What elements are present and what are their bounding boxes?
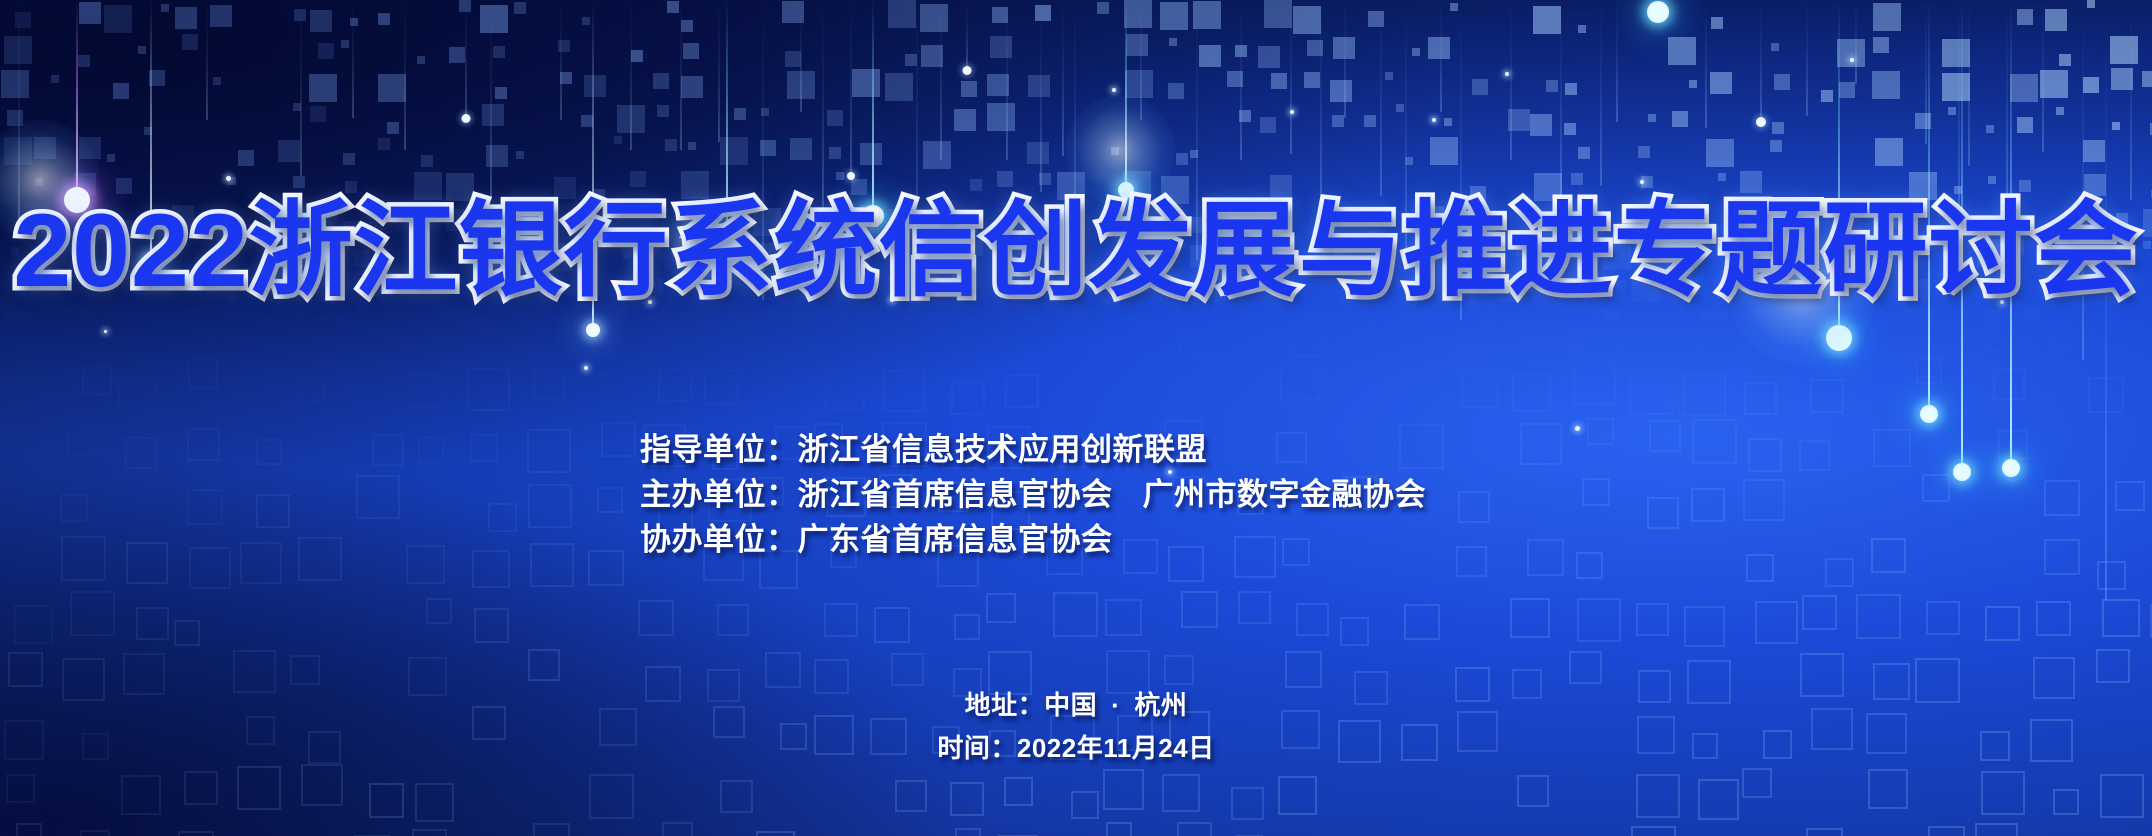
location-separator-dot: · bbox=[1111, 690, 1120, 720]
time-value: 2022年11月24日 bbox=[1017, 733, 1215, 763]
organizer-value-host-2: 广州市数字金融协会 bbox=[1143, 477, 1427, 512]
location-country: 中国 bbox=[1044, 690, 1097, 720]
location-label: 地址： bbox=[965, 690, 1045, 720]
banner-content: 2022浙江银行系统信创发展与推进专题研讨会 指导单位：浙江省信息技术应用创新联… bbox=[0, 0, 2152, 836]
organizer-label-guidance: 指导单位： bbox=[640, 432, 798, 467]
time-label: 时间： bbox=[937, 733, 1017, 763]
organizer-list: 指导单位：浙江省信息技术应用创新联盟 主办单位：浙江省首席信息官协会广州市数字金… bbox=[640, 427, 1426, 562]
organizer-row-cohost: 协办单位：广东省首席信息官协会 bbox=[640, 517, 1426, 562]
organizer-label-cohost: 协办单位： bbox=[640, 522, 798, 557]
organizer-row-host: 主办单位：浙江省首席信息官协会广州市数字金融协会 bbox=[640, 472, 1426, 517]
event-time-row: 时间：2022年11月24日 bbox=[0, 727, 2152, 770]
organizer-value-guidance: 浙江省信息技术应用创新联盟 bbox=[798, 432, 1208, 467]
event-location-row: 地址：中国·杭州 bbox=[0, 684, 2152, 727]
organizer-value-cohost: 广东省首席信息官协会 bbox=[798, 522, 1113, 557]
event-banner: 2022浙江银行系统信创发展与推进专题研讨会 指导单位：浙江省信息技术应用创新联… bbox=[0, 0, 2152, 836]
page-title: 2022浙江银行系统信创发展与推进专题研讨会 bbox=[0, 196, 2152, 306]
organizer-value-host: 浙江省首席信息官协会 bbox=[798, 477, 1113, 512]
organizer-label-host: 主办单位： bbox=[640, 477, 798, 512]
event-meta: 地址：中国·杭州 时间：2022年11月24日 bbox=[0, 684, 2152, 770]
location-city: 杭州 bbox=[1134, 690, 1187, 720]
organizer-row-guidance: 指导单位：浙江省信息技术应用创新联盟 bbox=[640, 427, 1426, 472]
